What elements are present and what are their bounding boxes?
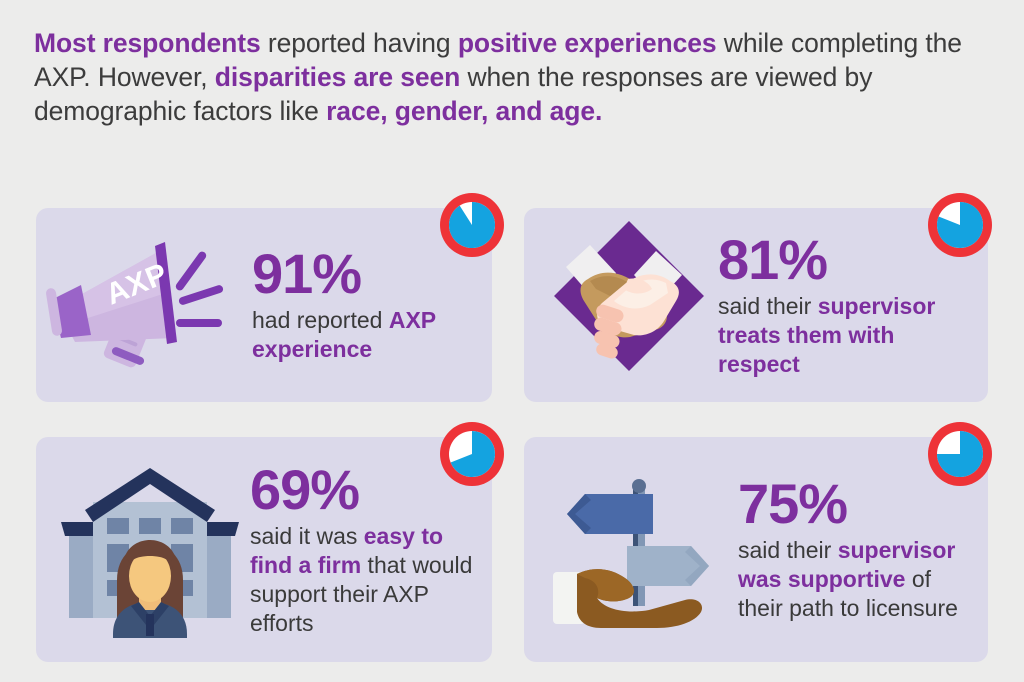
stat-percent: 91% [252, 246, 478, 302]
stat-card-axp-experience: AXP 91% had reported AXP experience [36, 208, 492, 402]
stat-card-supervisor-supportive: 75% said their supervisor was supportive… [524, 437, 988, 662]
pie-badge-91 [440, 193, 504, 257]
firm-building-icon [50, 457, 250, 643]
pie-badge-81 [928, 193, 992, 257]
pie-badge-69 [440, 422, 504, 486]
pie-chart-91 [447, 200, 497, 250]
signpost-hand-icon [542, 461, 738, 639]
pie-badge-75 [928, 422, 992, 486]
stat-description: said their supervisor treats them with r… [718, 292, 974, 379]
stat-card-supervisor-respect: 81% said their supervisor treats them wi… [524, 208, 988, 402]
pie-chart-75 [935, 429, 985, 479]
stat-description: said their supervisor was supportive of … [738, 536, 974, 623]
stat-card-find-a-firm: 69% said it was easy to find a firm that… [36, 437, 492, 662]
handshake-icon [540, 221, 718, 389]
stat-description: said it was easy to find a firm that wou… [250, 522, 478, 638]
pie-chart-69 [447, 429, 497, 479]
stat-percent: 75% [738, 476, 974, 532]
stat-description: had reported AXP experience [252, 306, 478, 364]
page-headline: Most respondents reported having positiv… [34, 26, 974, 128]
megaphone-icon: AXP [42, 225, 252, 385]
pie-chart-81 [935, 200, 985, 250]
